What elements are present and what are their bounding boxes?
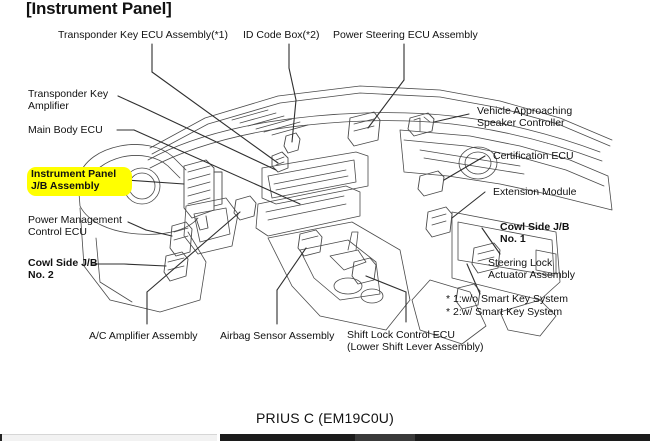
footnotes-smart-key-system: * 1:w/o Smart Key System * 2:w/ Smart Ke… xyxy=(446,293,568,319)
leader-certification-ecu xyxy=(444,156,485,180)
strip-dark-right xyxy=(415,434,650,441)
footer-caption: PRIUS C (EM19C0U) xyxy=(0,410,650,426)
callout-power-steering-ecu-assembly: Power Steering ECU Assembly xyxy=(333,30,478,42)
callout-cowl-side-jb-no2: Cowl Side J/B No. 2 xyxy=(28,258,97,281)
callout-id-code-box: ID Code Box(*2) xyxy=(243,30,319,42)
callout-shift-lock-control-ecu: Shift Lock Control ECU (Lower Shift Leve… xyxy=(347,330,484,353)
callout-ac-amplifier-assembly: A/C Amplifier Assembly xyxy=(89,331,198,343)
diagram-page: [Instrument Panel] xyxy=(0,0,650,441)
leader-steering-lock-actuator xyxy=(467,264,480,294)
callout-certification-ecu: Certification ECU xyxy=(493,151,574,163)
callout-transponder-key-ecu-assembly: Transponder Key ECU Assembly(*1) xyxy=(58,30,228,42)
leader-cowl-side-jb-no1 xyxy=(482,228,500,254)
callout-main-body-ecu: Main Body ECU xyxy=(28,125,103,137)
leader-extension-module xyxy=(452,192,485,218)
leader-vehicle-approaching-speaker xyxy=(434,114,469,122)
leader-power-management-control-ecu xyxy=(128,222,146,230)
callout-airbag-sensor-assembly: Airbag Sensor Assembly xyxy=(220,331,334,343)
leader-transponder-key-amplifier xyxy=(118,96,140,106)
scrollbar-track[interactable] xyxy=(2,434,217,441)
bottom-chrome-strip xyxy=(0,434,650,441)
callout-power-management-control-ecu: Power Management Control ECU xyxy=(28,215,122,238)
callout-instrument-panel-jb-assembly: Instrument Panel J/B Assembly xyxy=(31,169,116,192)
callout-cowl-side-jb-no1: Cowl Side J/B No. 1 xyxy=(500,222,569,245)
callout-steering-lock-actuator-assembly: Steering Lock Actuator Assembly xyxy=(488,258,575,281)
callout-vehicle-approaching-speaker-controller: Vehicle Approaching Speaker Controller xyxy=(477,106,572,129)
strip-dark-mid xyxy=(355,434,415,441)
callout-transponder-key-amplifier: Transponder Key Amplifier xyxy=(28,89,108,112)
strip-dark-left xyxy=(220,434,355,441)
callout-extension-module: Extension Module xyxy=(493,187,576,199)
